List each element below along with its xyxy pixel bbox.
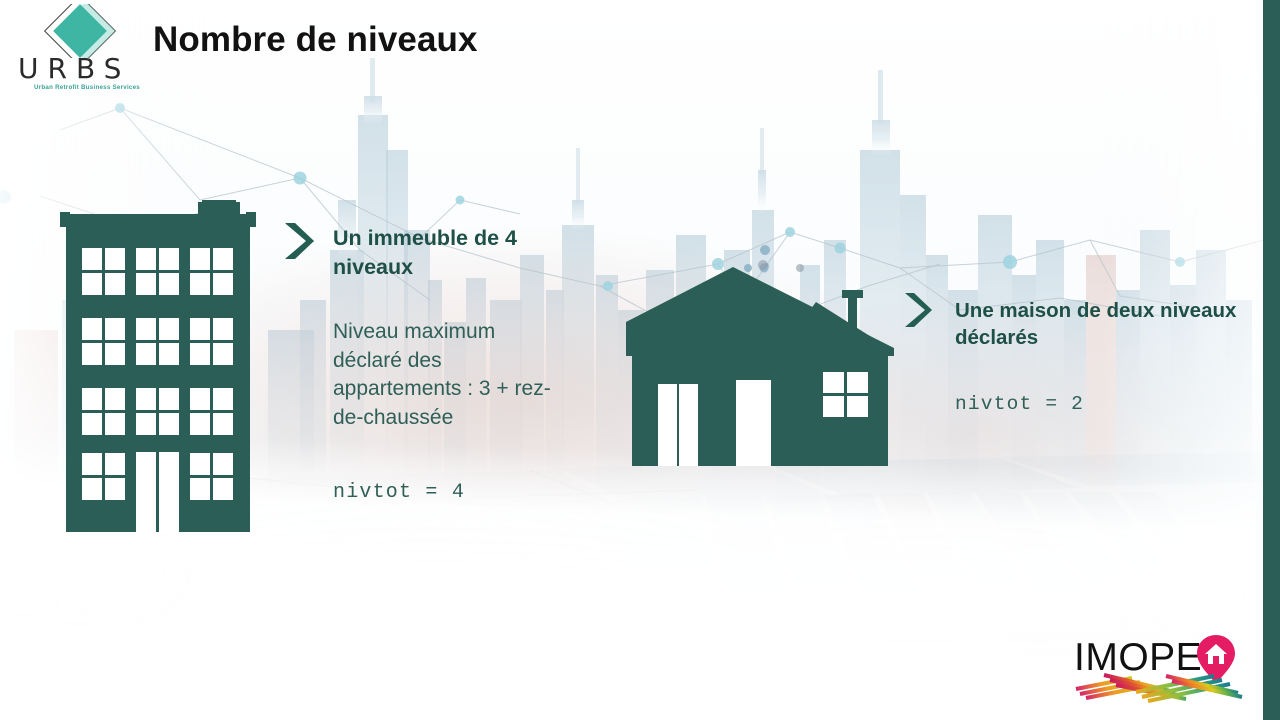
urbs-wordmark: URBS — [18, 52, 142, 82]
block-immeuble-heading: Un immeuble de 4 niveaux — [333, 224, 578, 282]
urbs-diamond-icon — [16, 4, 144, 58]
apartment-building-illustration — [60, 200, 260, 532]
house-illustration — [620, 262, 902, 470]
urbs-logo: URBS Urban Retrofit Business Services — [16, 4, 144, 96]
urbs-tagline: Urban Retrofit Business Services — [28, 84, 146, 91]
chevron-right-icon — [281, 220, 315, 262]
right-accent-bar — [1263, 0, 1280, 720]
block-maison-code: nivtot = 2 — [955, 393, 1084, 415]
page-title: Nombre de niveaux — [153, 20, 478, 60]
imope-logo: IMOPE — [1074, 634, 1244, 710]
chevron-right-icon — [901, 290, 933, 330]
slide-canvas: URBS Urban Retrofit Business Services No… — [0, 0, 1280, 720]
imope-ribbon-icon — [1074, 672, 1244, 706]
block-immeuble-code: nivtot = 4 — [333, 481, 465, 504]
block-maison-heading: Une maison de deux niveaux déclarés — [955, 297, 1245, 352]
block-immeuble-body: Niveau maximum déclaré des appartements … — [333, 318, 569, 432]
